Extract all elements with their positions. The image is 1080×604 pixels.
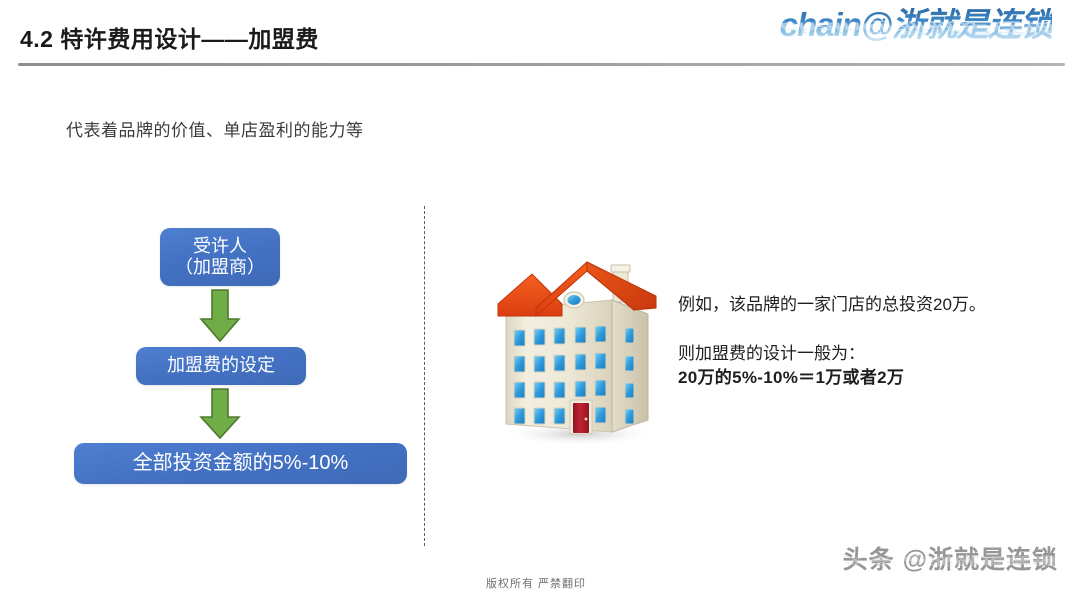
slide-canvas: 4.2 特许费用设计——加盟费 chain@浙就是连锁 chain@浙就是连锁 … <box>0 0 1080 604</box>
flow-box-franchisee: 受许人 （加盟商） <box>160 228 280 286</box>
example-paragraph-2-text: 则加盟费的设计一般为： <box>678 344 865 363</box>
flow-box-1-line1: 受许人 <box>193 236 247 256</box>
down-arrow-icon-1 <box>199 289 241 343</box>
lead-text: 代表着品牌的价值、单店盈利的能力等 <box>66 116 364 141</box>
brand-logo: chain@浙就是连锁 chain@浙就是连锁 <box>780 8 1052 68</box>
page-title: 4.2 特许费用设计——加盟费 <box>20 20 319 54</box>
flow-box-investment-percentage: 全部投资金额的5%-10% <box>74 443 407 484</box>
watermark-reflection: 头条 @浙就是连锁 <box>843 554 1058 568</box>
example-result: 20万的5%-10%＝1万或者2万 <box>678 368 904 387</box>
copyright-notice: 版权所有 严禁翻印 <box>486 575 586 591</box>
vertical-dashed-divider <box>424 206 425 546</box>
flow-box-2-line1: 加盟费的设定 <box>167 355 275 375</box>
down-arrow-icon-2 <box>199 388 241 440</box>
apartment-building-icon <box>488 252 668 448</box>
flow-box-1-line2: （加盟商） <box>175 257 265 278</box>
flow-box-fee-setting: 加盟费的设定 <box>136 347 306 385</box>
example-paragraph-2: 则加盟费的设计一般为： 20万的5%-10%＝1万或者2万 <box>678 342 1008 391</box>
watermark: 头条 @浙就是连锁 头条 @浙就是连锁 <box>843 540 1058 604</box>
example-paragraph-1: 例如，该品牌的一家门店的总投资20万。 <box>678 293 1008 318</box>
brand-logo-reflection: chain@浙就是连锁 <box>780 20 1052 35</box>
example-text-block: 例如，该品牌的一家门店的总投资20万。 则加盟费的设计一般为： 20万的5%-1… <box>678 293 1008 391</box>
flow-box-3-line1: 全部投资金额的5%-10% <box>133 452 349 474</box>
